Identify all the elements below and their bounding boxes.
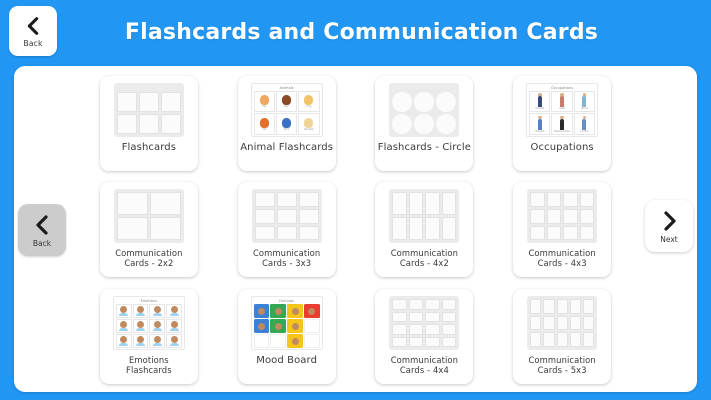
emotion-avatar (170, 336, 179, 346)
thumb-cell (580, 192, 595, 207)
tile-thumbnail (386, 188, 462, 244)
thumb-cell (570, 316, 581, 331)
thumb-cell (255, 209, 275, 224)
shoulders-icon (170, 343, 179, 346)
flashcard-tile-animal-flashcards[interactable]: AnimalsCatHenDogCatBirdHamsterAnimal Fla… (238, 76, 336, 171)
thumb-cell: Businessman (551, 113, 572, 135)
animal-caption: Hamster (304, 128, 314, 131)
thumb-cell (436, 92, 456, 112)
thumb-grid-5x3-placeholder (527, 296, 597, 350)
occupation-caption: Doctor (580, 130, 588, 133)
figure-body-icon (582, 96, 586, 107)
thumb-cell (277, 192, 297, 207)
thumb-cell (442, 217, 457, 240)
animal-icon (260, 118, 269, 128)
thumb-cell (149, 334, 165, 348)
tile-slot: FeelingsMood Board (218, 283, 356, 390)
tile-thumbnail: AnimalsCatHenDogCatBirdHamster (249, 82, 325, 138)
thumb-cell: Cat (254, 113, 275, 135)
mood-avatar (275, 323, 282, 330)
emotion-avatar (170, 321, 179, 331)
thumb-cell (543, 316, 554, 331)
thumb-cell: Student (529, 113, 550, 135)
thumb-grid-3x2-placeholder (114, 83, 184, 137)
thumb-cell (149, 319, 165, 333)
thumb-cell: Dog (298, 91, 319, 113)
app-header: Back Flashcards and Communication Cards (0, 0, 711, 64)
thumb-grid-3x3-placeholder (252, 189, 322, 243)
thumb-cell (580, 226, 595, 241)
thumb-cell (166, 304, 182, 318)
occupation-caption: Student (535, 130, 544, 133)
animal-caption: Dog (307, 105, 312, 108)
thumb-cell (149, 304, 165, 318)
emotion-avatar (136, 306, 145, 316)
animal-icon (304, 95, 313, 105)
thumb-cell (563, 192, 578, 207)
animal-caption: Cat (262, 128, 266, 131)
thumb-cell (409, 337, 424, 348)
thumb-cell (563, 209, 578, 224)
occupation-caption: Dentist (535, 107, 544, 110)
thumb-cell (270, 334, 286, 348)
tile-thumbnail (386, 295, 462, 351)
shoulders-icon (136, 313, 145, 316)
mood-avatar (292, 308, 299, 315)
thumb-cell (570, 299, 581, 314)
thumb-cell: Chef (551, 91, 572, 113)
thumb-cell (547, 226, 562, 241)
thumb-cell (287, 319, 303, 333)
thumb-emotions-face-grid: Emotions (113, 296, 185, 350)
tile-label: Flashcards - Circle (377, 142, 471, 154)
thumb-cell (133, 304, 149, 318)
thumb-cell (299, 209, 319, 224)
mood-avatar (258, 308, 265, 315)
face-icon (292, 338, 299, 345)
thumb-cell (557, 316, 568, 331)
shoulders-icon (119, 313, 128, 316)
thumb-cell (425, 299, 440, 310)
figure-body-icon (560, 96, 564, 107)
thumb-cell (392, 337, 407, 348)
chevron-left-icon (30, 212, 54, 238)
face-icon (258, 308, 265, 315)
emotion-avatar (119, 306, 128, 316)
tile-slot: Flashcards (80, 70, 218, 177)
thumb-cell (580, 209, 595, 224)
thumb-cell (409, 299, 424, 310)
tile-thumbnail: OccupationsDentistChefNurseStudentBusine… (524, 82, 600, 138)
thumb-cell (530, 332, 541, 347)
mood-avatar (292, 323, 299, 330)
face-icon (258, 323, 265, 330)
occupation-figure (582, 116, 586, 130)
figure-body-icon (560, 119, 564, 130)
thumb-cell (436, 114, 456, 134)
flashcard-tile-communication-cards-4x3[interactable]: CommunicationCards - 4x3 (513, 182, 611, 277)
animal-icon (282, 118, 291, 128)
thumb-cell (583, 299, 594, 314)
thumb-cell: Hamster (298, 113, 319, 135)
tile-thumbnail (524, 188, 600, 244)
thumb-cell (392, 92, 412, 112)
tile-label: CommunicationCards - 4x4 (377, 355, 471, 375)
thumb-cell (543, 299, 554, 314)
thumb-mini-grid (254, 304, 320, 348)
thumb-cell (117, 114, 137, 134)
thumb-grid-4x4-placeholder (389, 296, 459, 350)
thumb-cell (547, 209, 562, 224)
animal-icon (304, 118, 313, 128)
thumb-cell (583, 316, 594, 331)
thumb-cell (166, 334, 182, 348)
thumb-cell (116, 334, 132, 348)
thumb-cell (543, 332, 554, 347)
occupation-caption: Businessman (554, 130, 570, 133)
thumb-cell (139, 114, 159, 134)
face-icon (308, 308, 315, 315)
emotion-avatar (119, 321, 128, 331)
mood-avatar (258, 323, 265, 330)
tile-slot: OccupationsDentistChefNurseStudentBusine… (493, 70, 631, 177)
emotion-avatar (170, 306, 179, 316)
thumb-cell (557, 299, 568, 314)
emotion-avatar (136, 336, 145, 346)
flashcard-tile-mood-board[interactable]: FeelingsMood Board (238, 289, 336, 384)
thumb-cell (392, 299, 407, 310)
tile-thumbnail (386, 82, 462, 138)
shoulders-icon (170, 313, 179, 316)
thumb-cell (425, 217, 440, 240)
thumb-cell (392, 324, 407, 335)
tile-slot: CommunicationCards - 4x2 (356, 177, 494, 284)
thumb-cell (442, 337, 457, 348)
shoulders-icon (153, 328, 162, 331)
tile-label: CommunicationCards - 2x2 (102, 248, 196, 268)
thumb-cell (442, 299, 457, 310)
thumb-cell (270, 304, 286, 318)
flashcard-tile-communication-cards-3x3[interactable]: CommunicationCards - 3x3 (238, 182, 336, 277)
next-page-button[interactable]: Next (645, 200, 693, 252)
thumb-cell (117, 192, 148, 215)
animal-icon (260, 95, 269, 105)
thumb-cell (557, 332, 568, 347)
thumb-cell (304, 334, 320, 348)
face-icon (275, 308, 282, 315)
tile-label: CommunicationCards - 3x3 (240, 248, 334, 268)
flashcard-tile-communication-cards-2x2[interactable]: CommunicationCards - 2x2 (100, 182, 198, 277)
flashcard-grid: FlashcardsAnimalsCatHenDogCatBirdHamster… (80, 70, 631, 390)
thumb-cell (254, 304, 270, 318)
occupation-caption: Chef (559, 107, 565, 110)
prev-page-label: Back (33, 239, 51, 248)
tile-label: CommunicationCards - 4x2 (377, 248, 471, 268)
tile-thumbnail: Emotions (111, 295, 187, 351)
thumb-cell (254, 334, 270, 348)
thumb-cell (547, 192, 562, 207)
thumb-mini-grid: DentistChefNurseStudentBusinessmanDoctor (529, 91, 595, 135)
thumb-cell (161, 114, 181, 134)
figure-body-icon (582, 119, 586, 130)
thumb-cell (277, 226, 297, 241)
tile-slot: EmotionsEmotionsFlashcards (80, 283, 218, 390)
thumb-cell (392, 114, 412, 134)
thumb-cell (255, 192, 275, 207)
occupation-figure (538, 116, 542, 130)
face-icon (292, 308, 299, 315)
thumb-cell (414, 114, 434, 134)
tile-thumbnail (524, 295, 600, 351)
tile-label: Animal Flashcards (240, 142, 334, 154)
thumb-cell (133, 334, 149, 348)
thumb-cell (277, 209, 297, 224)
thumb-cell (392, 312, 407, 323)
thumb-cell (530, 226, 545, 241)
shoulders-icon (136, 328, 145, 331)
figure-body-icon (538, 119, 542, 130)
thumb-cell (425, 192, 440, 215)
flashcard-tile-communication-cards-4x4[interactable]: CommunicationCards - 4x4 (375, 289, 473, 384)
thumb-cell (442, 192, 457, 215)
mood-avatar (308, 308, 315, 315)
animal-caption: Cat (262, 105, 266, 108)
thumb-mood-board-color-grid: Feelings (251, 296, 323, 350)
thumb-cell (425, 324, 440, 335)
thumb-cell (150, 192, 181, 215)
thumb-grid-2x2-placeholder (114, 189, 184, 243)
thumb-cell (530, 192, 545, 207)
thumb-cell (299, 192, 319, 207)
tile-slot: CommunicationCards - 4x3 (493, 177, 631, 284)
tile-thumbnail (111, 82, 187, 138)
tile-label: Flashcards (102, 142, 196, 154)
thumb-grid-4x3-placeholder (527, 189, 597, 243)
thumb-cell (150, 217, 181, 240)
page-title: Flashcards and Communication Cards (0, 0, 711, 64)
mood-avatar (292, 338, 299, 345)
thumb-cell (409, 312, 424, 323)
flashcard-tile-occupations[interactable]: OccupationsDentistChefNurseStudentBusine… (513, 76, 611, 171)
tile-label: Mood Board (240, 355, 334, 367)
occupation-figure (560, 116, 564, 130)
thumb-cell (133, 319, 149, 333)
tile-slot: CommunicationCards - 4x4 (356, 283, 494, 390)
thumb-cell (270, 319, 286, 333)
thumb-cell (254, 319, 270, 333)
tile-slot: AnimalsCatHenDogCatBirdHamsterAnimal Fla… (218, 70, 356, 177)
emotion-avatar (153, 321, 162, 331)
thumb-cell (287, 334, 303, 348)
thumb-occupations-photo-grid: OccupationsDentistChefNurseStudentBusine… (526, 83, 598, 137)
shoulders-icon (119, 343, 128, 346)
thumb-cell (161, 92, 181, 112)
tile-slot: CommunicationCards - 3x3 (218, 177, 356, 284)
shoulders-icon (153, 313, 162, 316)
thumb-cell: Cat (254, 91, 275, 113)
tile-label: CommunicationCards - 5x3 (515, 355, 609, 375)
thumb-cell (583, 332, 594, 347)
thumb-mini-grid (116, 304, 182, 348)
animal-caption: Bird (284, 128, 289, 131)
thumb-cell (530, 209, 545, 224)
emotion-avatar (136, 321, 145, 331)
tile-slot: CommunicationCards - 2x2 (80, 177, 218, 284)
occupation-figure (560, 93, 564, 107)
tile-label: Occupations (515, 142, 609, 154)
tile-slot: Flashcards - Circle (356, 70, 494, 177)
thumb-cell (117, 92, 137, 112)
thumb-cell (425, 337, 440, 348)
thumb-cell (116, 304, 132, 318)
thumb-cell (530, 316, 541, 331)
thumb-cell (442, 324, 457, 335)
shoulders-icon (136, 343, 145, 346)
animal-icon (282, 95, 291, 105)
animal-caption: Hen (284, 105, 289, 108)
chevron-right-icon (657, 208, 681, 234)
next-page-label: Next (660, 235, 677, 244)
occupation-figure (538, 93, 542, 107)
thumb-grid-4x2-placeholder (389, 189, 459, 243)
thumb-cell (409, 192, 424, 215)
thumb-cell (414, 92, 434, 112)
flashcard-tile-emotions-flashcards[interactable]: EmotionsEmotionsFlashcards (100, 289, 198, 384)
tile-label: CommunicationCards - 4x3 (515, 248, 609, 268)
mood-avatar (275, 308, 282, 315)
thumb-cell (287, 304, 303, 318)
shoulders-icon (119, 328, 128, 331)
thumb-cell (304, 304, 320, 318)
shoulders-icon (153, 343, 162, 346)
thumb-cell (304, 319, 320, 333)
thumb-cell (166, 319, 182, 333)
thumb-cell (117, 217, 148, 240)
thumb-cell: Dentist (529, 91, 550, 113)
thumb-animal-photo-grid: AnimalsCatHenDogCatBirdHamster (251, 83, 323, 137)
thumb-cell: Doctor (574, 113, 595, 135)
emotion-avatar (153, 336, 162, 346)
thumb-cell (255, 226, 275, 241)
thumb-cell: Nurse (574, 91, 595, 113)
face-icon (292, 323, 299, 330)
occupation-figure (582, 93, 586, 107)
tile-label: EmotionsFlashcards (102, 355, 196, 375)
thumb-cell (570, 332, 581, 347)
thumb-cell: Bird (276, 113, 297, 135)
thumb-cell (392, 192, 407, 215)
flashcard-tile-flashcards-circle[interactable]: Flashcards - Circle (375, 76, 473, 171)
flashcard-tile-communication-cards-4x2[interactable]: CommunicationCards - 4x2 (375, 182, 473, 277)
figure-body-icon (538, 96, 542, 107)
thumb-cell: Hen (276, 91, 297, 113)
emotion-avatar (153, 306, 162, 316)
occupation-caption: Nurse (581, 107, 588, 110)
thumb-cell (530, 299, 541, 314)
thumb-cell (442, 312, 457, 323)
tile-slot: CommunicationCards - 5x3 (493, 283, 631, 390)
thumb-cell (425, 312, 440, 323)
flashcard-tile-communication-cards-5x3[interactable]: CommunicationCards - 5x3 (513, 289, 611, 384)
thumb-cell (409, 324, 424, 335)
thumb-cell (299, 226, 319, 241)
thumb-cell (392, 217, 407, 240)
prev-page-button[interactable]: Back (18, 204, 66, 256)
tile-thumbnail (249, 188, 325, 244)
thumb-grid-3x2-circles (389, 83, 459, 137)
thumb-cell (116, 319, 132, 333)
thumb-cell (139, 92, 159, 112)
thumb-cell (563, 226, 578, 241)
thumb-cell (409, 217, 424, 240)
shoulders-icon (170, 328, 179, 331)
emotion-avatar (119, 336, 128, 346)
face-icon (275, 323, 282, 330)
flashcard-tile-flashcards[interactable]: Flashcards (100, 76, 198, 171)
tile-thumbnail: Feelings (249, 295, 325, 351)
tile-thumbnail (111, 188, 187, 244)
thumb-mini-grid: CatHenDogCatBirdHamster (254, 91, 320, 135)
